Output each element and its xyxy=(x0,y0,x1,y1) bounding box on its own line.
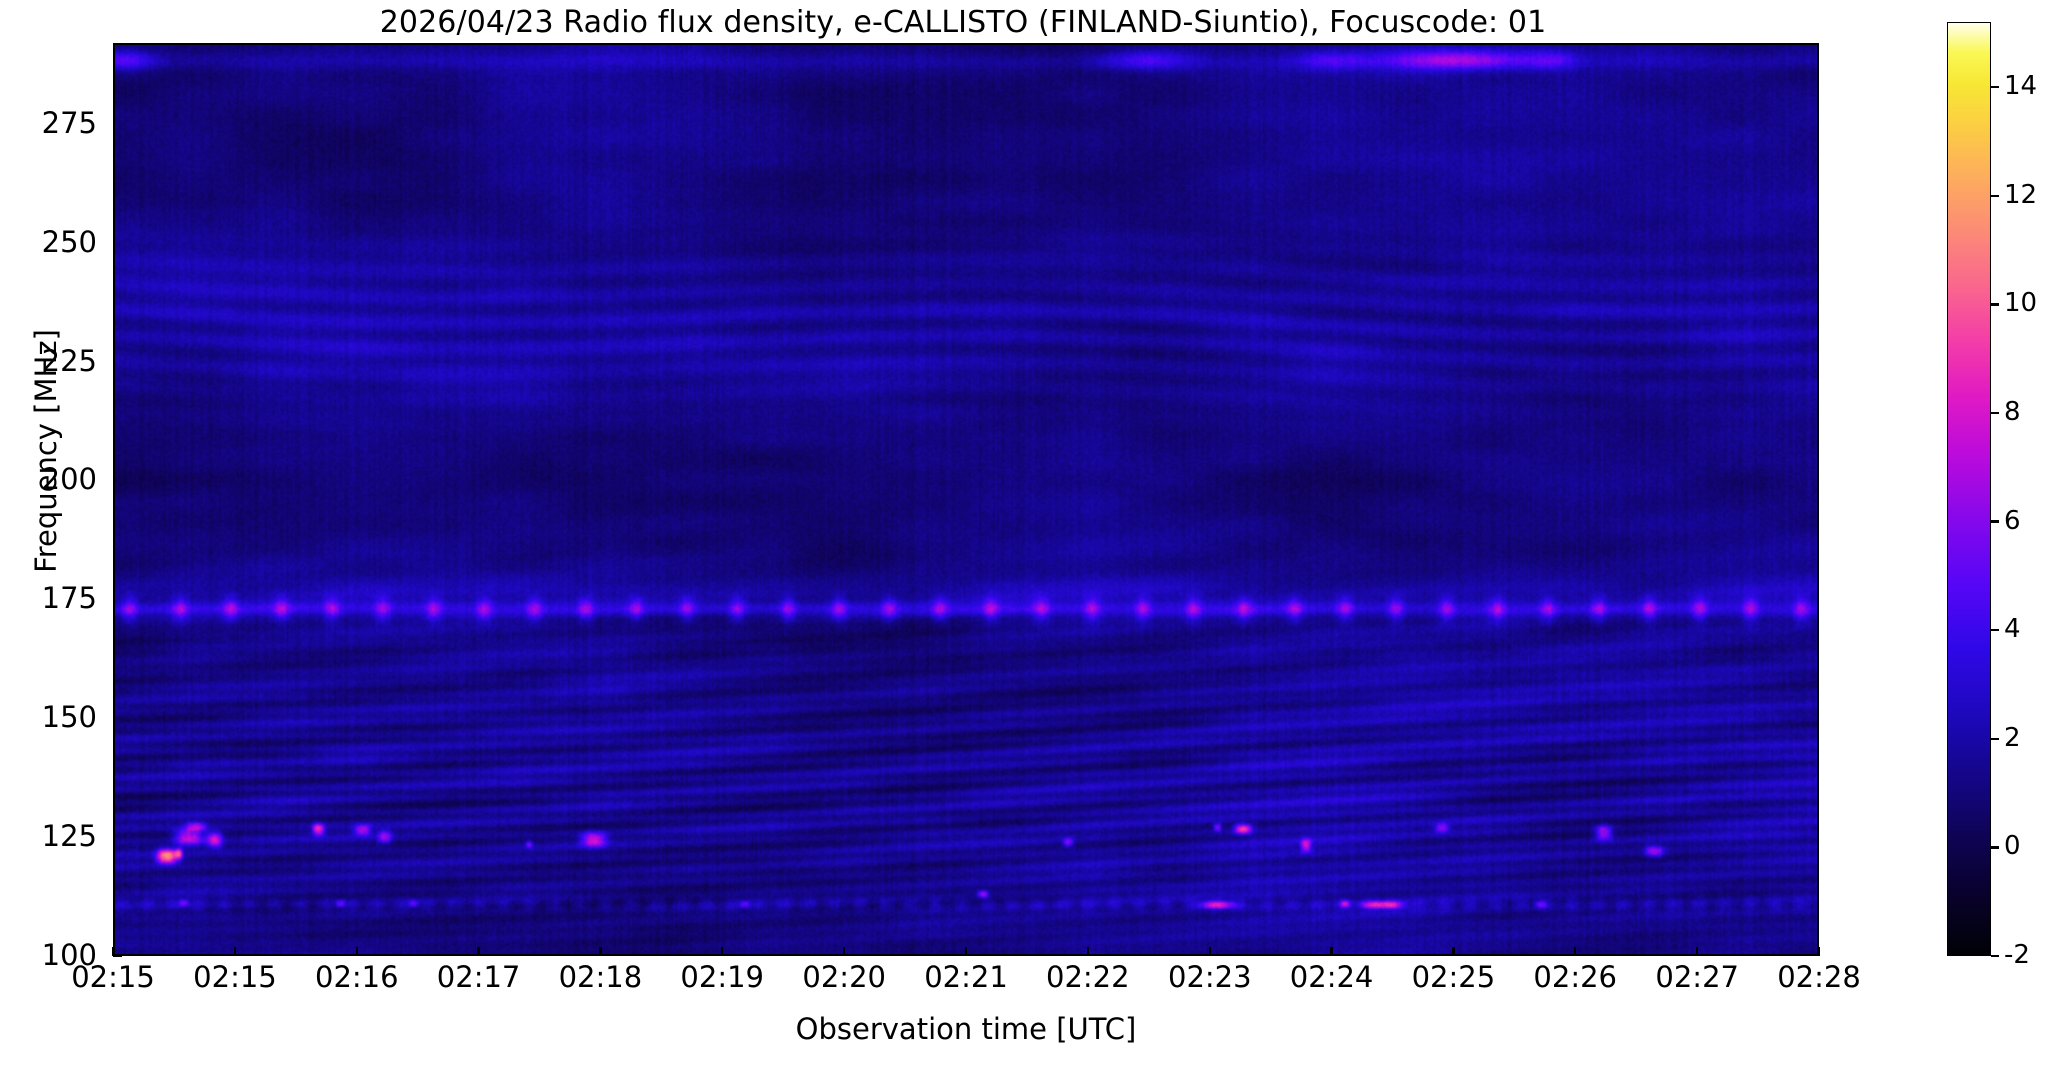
colorbar-tick-mark xyxy=(1991,195,1999,197)
x-tick-label: 02:22 xyxy=(1046,960,1130,994)
x-tick-mark xyxy=(965,947,968,956)
colorbar-tick-mark xyxy=(1991,86,1999,88)
y-tick-label: 200 xyxy=(42,462,97,496)
x-tick-label: 02:21 xyxy=(924,960,1008,994)
x-tick-mark xyxy=(721,947,724,956)
x-tick-mark xyxy=(1209,947,1212,956)
colorbar-tick-mark xyxy=(1991,303,1999,305)
x-tick-label: 02:23 xyxy=(1168,960,1252,994)
colorbar-tick-label: 2 xyxy=(2004,722,2021,754)
colorbar-tick-mark xyxy=(1991,412,1999,414)
x-tick-label: 02:26 xyxy=(1533,960,1617,994)
spectrogram-axes xyxy=(113,43,1819,956)
x-tick-mark xyxy=(1818,947,1821,956)
x-axis-ticks: 02:1502:1502:1602:1702:1802:1902:2002:21… xyxy=(113,956,1819,1016)
x-tick-label: 02:27 xyxy=(1655,960,1739,994)
x-tick-label: 02:18 xyxy=(559,960,643,994)
colorbar-tick-label: 0 xyxy=(2004,830,2021,862)
x-tick-label: 02:15 xyxy=(71,960,155,994)
colorbar-tick-mark xyxy=(1991,955,1999,957)
x-tick-label: 02:24 xyxy=(1290,960,1374,994)
colorbar xyxy=(1947,22,1991,956)
x-tick-mark xyxy=(1574,947,1577,956)
colorbar-tick-mark xyxy=(1991,738,1999,740)
x-tick-label: 02:16 xyxy=(315,960,399,994)
y-tick-label: 250 xyxy=(42,225,97,259)
colorbar-tick-mark xyxy=(1991,846,1999,848)
x-tick-mark xyxy=(1087,947,1090,956)
x-tick-label: 02:28 xyxy=(1777,960,1861,994)
x-tick-mark xyxy=(356,947,359,956)
y-axis-ticks: 100125150175200225250275 xyxy=(0,43,113,956)
colorbar-tick-mark xyxy=(1991,520,1999,522)
x-tick-mark xyxy=(1452,947,1455,956)
spectrogram-image xyxy=(115,45,1817,954)
colorbar-tick-mark xyxy=(1991,629,1999,631)
colorbar-ticks: -202468101214 xyxy=(1991,22,2066,956)
colorbar-tick-label: 10 xyxy=(2004,287,2037,319)
y-tick-label: 275 xyxy=(42,106,97,140)
figure-canvas: 2026/04/23 Radio flux density, e-CALLIST… xyxy=(0,0,2066,1067)
colorbar-tick-label: 6 xyxy=(2004,505,2021,537)
page-title: 2026/04/23 Radio flux density, e-CALLIST… xyxy=(113,6,1813,40)
x-tick-mark xyxy=(477,947,480,956)
x-tick-label: 02:25 xyxy=(1412,960,1496,994)
colorbar-tick-label: 12 xyxy=(2004,179,2037,211)
y-tick-label: 150 xyxy=(42,700,97,734)
x-tick-mark xyxy=(1330,947,1333,956)
colorbar-gradient xyxy=(1948,23,1990,955)
x-tick-mark xyxy=(112,947,115,956)
colorbar-tick-label: -2 xyxy=(2004,939,2030,971)
x-axis-label: Observation time [UTC] xyxy=(113,1012,1819,1046)
x-tick-mark xyxy=(843,947,846,956)
colorbar-tick-label: 8 xyxy=(2004,396,2021,428)
x-tick-label: 02:20 xyxy=(802,960,886,994)
colorbar-tick-label: 14 xyxy=(2004,70,2037,102)
x-tick-label: 02:15 xyxy=(193,960,277,994)
x-tick-label: 02:19 xyxy=(680,960,764,994)
x-tick-mark xyxy=(234,947,237,956)
y-tick-label: 125 xyxy=(42,819,97,853)
y-tick-label: 175 xyxy=(42,581,97,615)
colorbar-tick-label: 4 xyxy=(2004,613,2021,645)
y-tick-label: 225 xyxy=(42,344,97,378)
x-tick-mark xyxy=(599,947,602,956)
x-tick-mark xyxy=(1696,947,1699,956)
x-tick-label: 02:17 xyxy=(437,960,521,994)
